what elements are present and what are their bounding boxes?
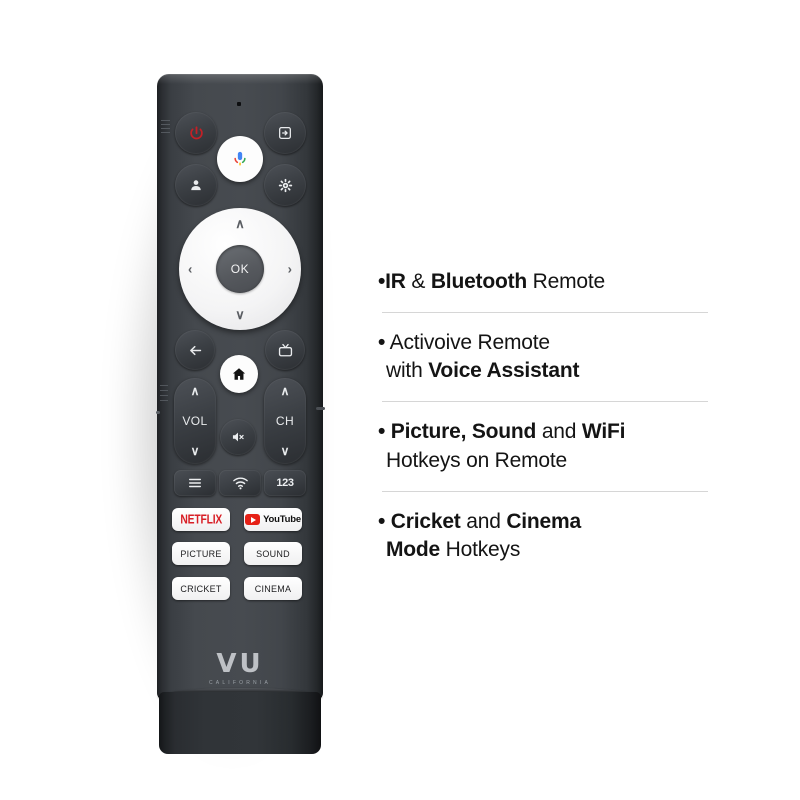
feature-item-cricket-cinema: • Cricket and Cinema Mode Hotkeys	[378, 508, 716, 564]
youtube-play-icon	[245, 514, 260, 525]
gear-icon	[277, 177, 294, 194]
feature-4-seg-3: Cinema	[506, 510, 581, 533]
vu-wordmark: VU	[197, 651, 283, 677]
back-arrow-icon	[187, 342, 204, 359]
feature-divider-1	[382, 312, 708, 313]
feature-item-ir-bluetooth: •IR & Bluetooth Remote	[378, 268, 716, 296]
dpad-down-arrow[interactable]: ∨	[235, 308, 245, 321]
remote-battery-compartment	[159, 692, 321, 754]
product-feature-graphic: ∧ ∨ ‹ › OK ∧ VOL	[0, 0, 800, 800]
volume-up[interactable]: ∧	[191, 385, 200, 397]
channel-up[interactable]: ∧	[281, 385, 290, 397]
feature-1-seg-2: &	[406, 270, 431, 293]
feature-item-voice-assistant: • Activoive Remote with Voice Assistant	[378, 329, 716, 385]
feature-2-seg-1: Activoive Remote	[390, 331, 550, 354]
feature-2-seg-2: with	[386, 359, 428, 382]
volume-down[interactable]: ∨	[191, 445, 200, 457]
feature-text-4: • Cricket and Cinema Mode Hotkeys	[378, 508, 716, 564]
cricket-hotkey-button[interactable]: CRICKET	[172, 577, 230, 600]
feature-3-seg-4: Hotkeys on Remote	[386, 449, 567, 472]
remote-side-ridges-mid	[160, 385, 168, 403]
feature-item-hotkeys: • Picture, Sound and WiFi Hotkeys on Rem…	[378, 418, 716, 474]
channel-label: CH	[276, 414, 294, 428]
dpad-left-arrow[interactable]: ‹	[188, 263, 192, 276]
feature-4-seg-2: and	[461, 510, 507, 533]
dpad-up-arrow[interactable]: ∧	[235, 217, 245, 230]
numeric-keypad-button[interactable]: 123	[264, 470, 306, 496]
profile-button[interactable]	[175, 164, 217, 206]
ir-led-indicator	[237, 102, 241, 106]
feature-3-seg-1: Picture, Sound	[391, 420, 536, 443]
feature-3-seg-3: WiFi	[582, 420, 625, 443]
bullet-4: •	[378, 510, 385, 533]
mute-speaker-icon	[230, 429, 246, 445]
input-source-button[interactable]	[264, 112, 306, 154]
feature-divider-2	[382, 401, 708, 402]
voice-assistant-button[interactable]	[217, 136, 263, 182]
youtube-logo-text: YouTube	[263, 514, 301, 525]
dpad-right-arrow[interactable]: ›	[288, 263, 292, 276]
youtube-button[interactable]: YouTube	[244, 508, 302, 531]
feature-1-seg-4: Remote	[527, 270, 605, 293]
sound-hotkey-button[interactable]: SOUND	[244, 542, 302, 565]
cinema-hotkey-button[interactable]: CINEMA	[244, 577, 302, 600]
tv-icon	[277, 342, 294, 359]
live-tv-button[interactable]	[265, 330, 305, 370]
channel-down[interactable]: ∨	[281, 445, 290, 457]
feature-4-seg-1: Cricket	[391, 510, 461, 533]
netflix-button[interactable]: NETFLIX	[172, 508, 230, 531]
dpad-ok-button[interactable]: OK	[216, 245, 264, 293]
home-icon	[231, 366, 247, 382]
settings-button[interactable]	[264, 164, 306, 206]
picture-hotkey-button[interactable]: PICTURE	[172, 542, 230, 565]
feature-text-2: • Activoive Remote with Voice Assistant	[378, 329, 716, 385]
remote-side-ridges-top	[161, 120, 170, 136]
channel-rocker[interactable]: ∧ CH ∨	[264, 378, 306, 464]
vu-tv-remote: ∧ ∨ ‹ › OK ∧ VOL	[157, 74, 323, 754]
feature-list: •IR & Bluetooth Remote • Activoive Remot…	[378, 268, 716, 564]
wifi-button[interactable]	[219, 470, 261, 496]
bullet-2: •	[378, 331, 385, 354]
power-icon	[188, 125, 205, 142]
google-assistant-mic-icon	[230, 149, 250, 169]
volume-rocker[interactable]: ∧ VOL ∨	[174, 378, 216, 464]
feature-4-seg-5: Hotkeys	[440, 538, 520, 561]
menu-button[interactable]	[174, 470, 216, 496]
wifi-icon	[232, 476, 249, 490]
bullet-3: •	[378, 420, 385, 443]
feature-1-seg-3: Bluetooth	[431, 270, 527, 293]
remote-right-notch	[316, 407, 325, 410]
feature-1-seg-1: IR	[385, 270, 406, 293]
dpad[interactable]: ∧ ∨ ‹ › OK	[179, 208, 301, 330]
feature-text-3: • Picture, Sound and WiFi Hotkeys on Rem…	[378, 418, 716, 474]
feature-text-1: •IR & Bluetooth Remote	[378, 268, 716, 296]
volume-label: VOL	[182, 414, 207, 428]
feature-divider-3	[382, 491, 708, 492]
feature-4-seg-4: Mode	[386, 538, 440, 561]
home-button[interactable]	[220, 355, 258, 393]
remote-left-notch	[156, 411, 160, 414]
numeric-123-icon: 123	[276, 477, 293, 489]
input-source-icon	[277, 125, 293, 141]
vu-tagline: CALIFORNIA	[197, 680, 283, 686]
netflix-logo: NETFLIX	[180, 512, 222, 526]
feature-2-seg-3: Voice Assistant	[428, 359, 579, 382]
hamburger-menu-icon	[187, 477, 203, 489]
power-button[interactable]	[175, 112, 217, 154]
mute-button[interactable]	[220, 419, 256, 455]
brand-logo: VU CALIFORNIA	[197, 651, 283, 686]
profile-icon	[188, 177, 204, 193]
back-button[interactable]	[175, 330, 215, 370]
feature-3-seg-2: and	[536, 420, 582, 443]
